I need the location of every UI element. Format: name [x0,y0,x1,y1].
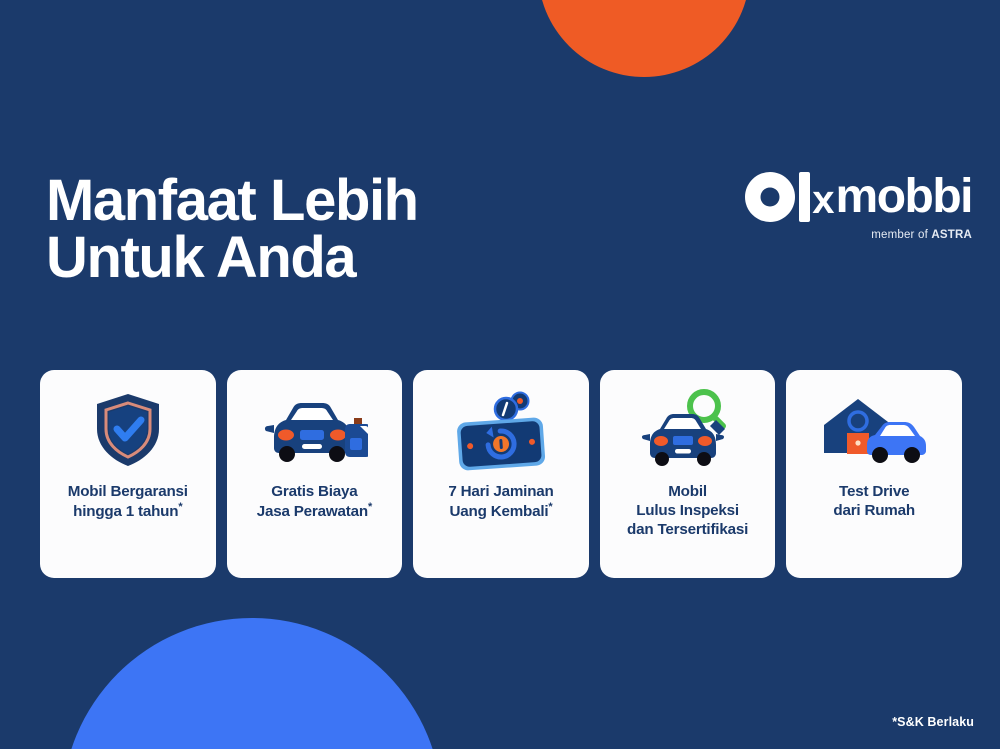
card-label-line-2: Lulus Inspeksi [627,501,748,520]
car-oil-bottle-icon [227,370,403,482]
benefit-card-inspection-label: Mobil Lulus Inspeksi dan Tersertifikasi [619,482,756,539]
shield-check-icon [40,370,216,482]
card-label-line-2: Jasa Perawatan* [257,501,372,521]
benefit-card-list: Mobil Bergaransi hingga 1 tahun* [40,370,962,578]
card-label-line-2: hingga 1 tahun* [68,501,188,521]
page-title-line-2: Untuk Anda [46,229,418,286]
logo-wordmark: mobbi [836,173,972,221]
logo-mark: x mobbi [745,170,972,224]
asterisk-mark: * [548,501,552,513]
benefit-card-test-drive[interactable]: Test Drive dari Rumah [786,370,962,578]
card-label-line-2: Uang Kembali* [448,501,553,521]
card-label-line-1: Mobil Bergaransi [68,482,188,501]
logo-tagline-brand: ASTRA [931,229,972,241]
terms-footnote: *S&K Berlaku [892,715,974,729]
card-label-line-1: Gratis Biaya [257,482,372,501]
logo-tagline-prefix: member of [871,229,931,241]
benefit-card-free-service-label: Gratis Biaya Jasa Perawatan* [249,482,380,521]
card-label-line-3: dan Tersertifikasi [627,520,748,539]
page-title-line-1: Manfaat Lebih [46,172,418,229]
brand-logo: x mobbi member of ASTRA [745,170,972,241]
benefit-card-money-back[interactable]: 7 Hari Jaminan Uang Kembali* [413,370,589,578]
promo-banner: Manfaat Lebih Untuk Anda x mobbi member … [0,0,1000,749]
logo-bar-icon [799,172,810,222]
benefit-card-free-service[interactable]: Gratis Biaya Jasa Perawatan* [227,370,403,578]
benefit-card-warranty[interactable]: Mobil Bergaransi hingga 1 tahun* [40,370,216,578]
card-label-line-1: Mobil [627,482,748,501]
benefit-card-inspection[interactable]: Mobil Lulus Inspeksi dan Tersertifikasi [600,370,776,578]
card-label-line-1: Test Drive [833,482,915,501]
logo-o-icon [745,172,795,222]
logo-x-icon: x [812,180,834,220]
money-refund-icon [413,370,589,482]
benefit-card-warranty-label: Mobil Bergaransi hingga 1 tahun* [60,482,196,521]
asterisk-mark: * [368,501,372,513]
card-label-line-1: 7 Hari Jaminan [448,482,553,501]
logo-tagline: member of ASTRA [745,229,972,241]
benefit-card-test-drive-label: Test Drive dari Rumah [825,482,923,520]
car-magnifier-icon [600,370,776,482]
house-car-icon [786,370,962,482]
asterisk-mark: * [178,501,182,513]
benefit-card-money-back-label: 7 Hari Jaminan Uang Kembali* [440,482,561,521]
card-label-line-2: dari Rumah [833,501,915,520]
page-title: Manfaat Lebih Untuk Anda [46,172,418,287]
